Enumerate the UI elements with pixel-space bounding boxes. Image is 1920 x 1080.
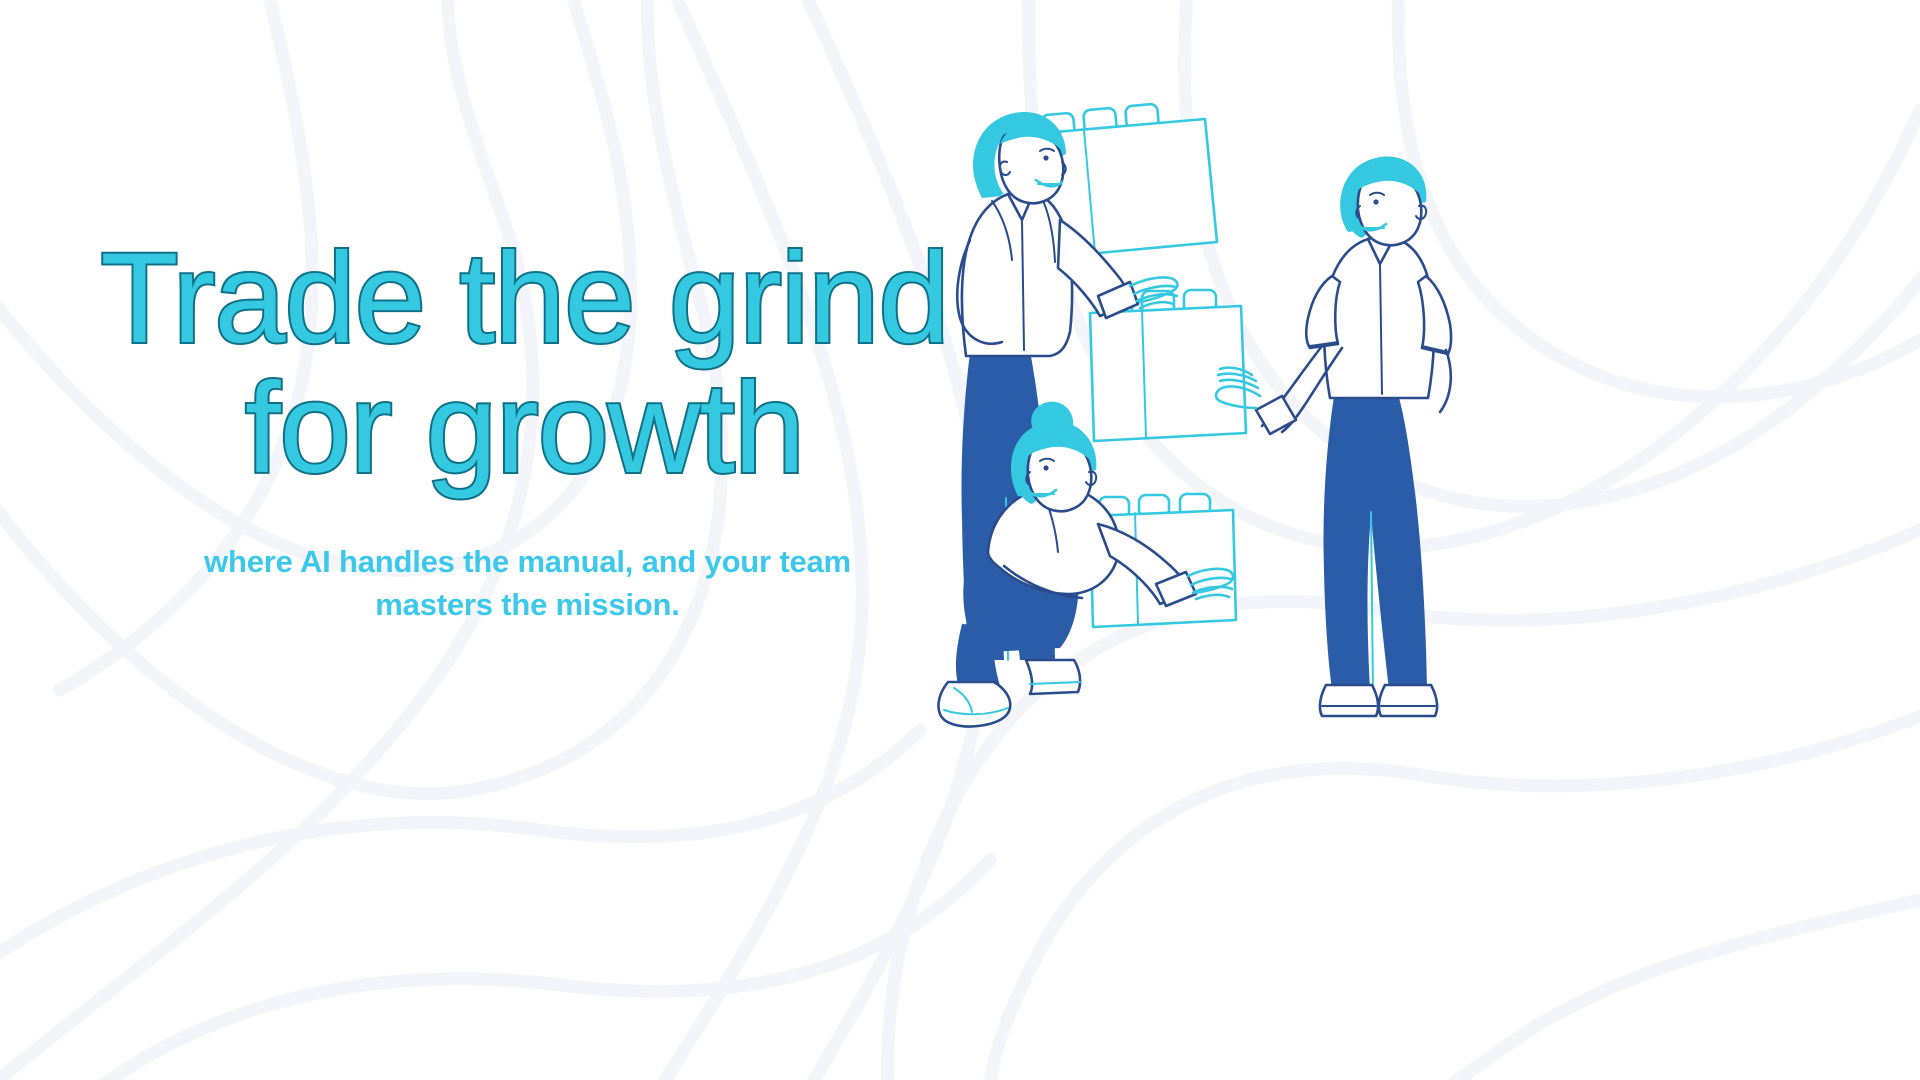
sneaker-figure3 xyxy=(938,682,1010,727)
shoes-figure2 xyxy=(1320,685,1437,716)
hero-text-column: Trade the grind for growth where AI hand… xyxy=(0,0,1075,1080)
team-building-blocks-illustration: .cy { fill:none; stroke:#35C9E1; stroke-… xyxy=(930,100,1550,740)
standing-man-right xyxy=(1216,157,1451,716)
hero-illustration-column: .cy { fill:none; stroke:#35C9E1; stroke-… xyxy=(1075,0,1920,1080)
hero-subtitle: where AI handles the manual, and your te… xyxy=(204,541,851,627)
hero-banner: Trade the grind for growth where AI hand… xyxy=(0,0,1920,1080)
sneaker2-figure3 xyxy=(1026,660,1080,694)
page-title: Trade the grind for growth xyxy=(100,234,948,495)
